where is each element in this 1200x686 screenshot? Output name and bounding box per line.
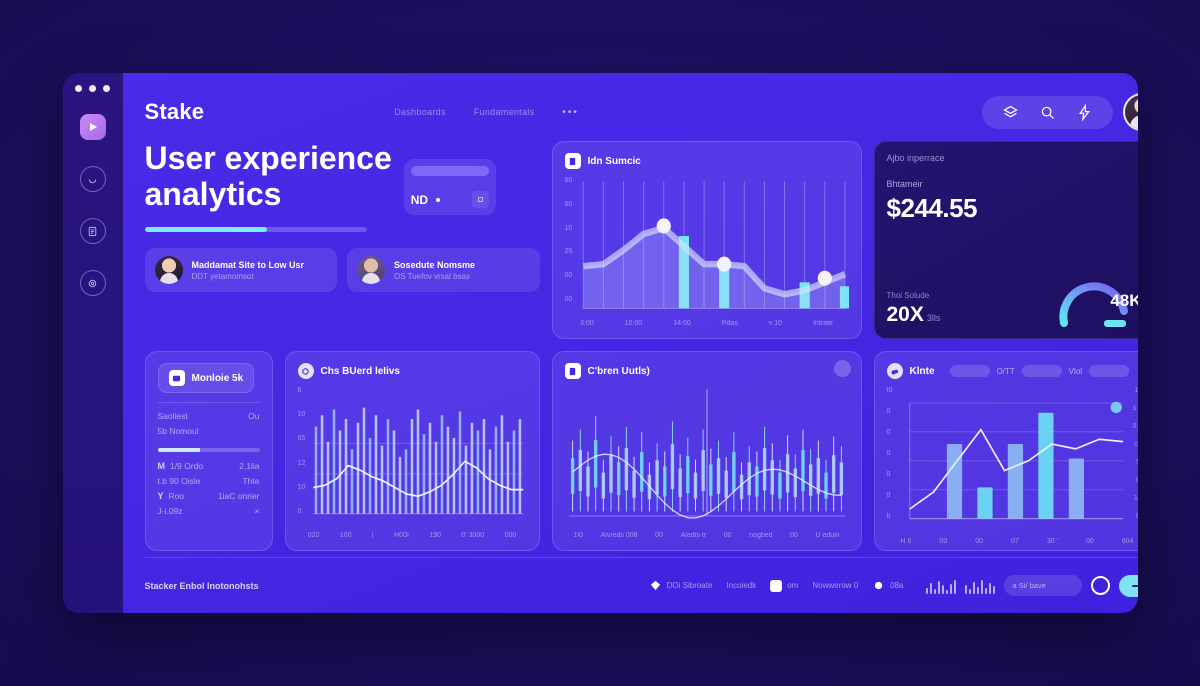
monitor-icon [169, 370, 185, 386]
document-icon [86, 225, 99, 238]
axis-tick: 00 [1086, 538, 1094, 545]
module-progress-fill [158, 448, 201, 452]
axis-tick: 10:00 [625, 320, 643, 327]
chart-options-button[interactable] [834, 360, 851, 377]
smile-icon [86, 173, 99, 186]
person-name: Maddamat Site to Low Usr [192, 260, 305, 270]
window-dot-minimize[interactable] [89, 85, 96, 92]
list-item[interactable]: Maddamat Site to Low Usr DDT yetamomsot [145, 248, 338, 292]
user-avatar[interactable] [1123, 93, 1138, 131]
axis-tick: 10 [565, 225, 581, 232]
filter-label[interactable]: Vlol [1069, 367, 1082, 376]
axis-tick: 0119 [1130, 423, 1138, 430]
action-toolbar [982, 96, 1113, 129]
footer-item-label: Nowwerow 0 [812, 581, 858, 590]
page-title-line1: User experience [145, 141, 392, 177]
sidebar-item-settings[interactable] [80, 270, 106, 296]
axis-tick: 0 [887, 492, 903, 499]
axis-tick: 0 [887, 450, 903, 457]
play-icon [87, 121, 99, 133]
stat-multiplier-value: 20X [887, 303, 924, 326]
card-title: Klnte [910, 366, 935, 377]
sparkline-bar [934, 589, 936, 594]
footer-controls: a Si/ bave [926, 575, 1138, 597]
list-item[interactable]: M1/9 Ordo 2,1lia [158, 461, 260, 471]
axis-tick: U eduin [815, 532, 839, 539]
cloud-icon [887, 363, 903, 379]
sparkline-bar [950, 584, 952, 594]
window-controls[interactable] [75, 85, 110, 92]
sparkline-bar [938, 581, 940, 594]
brand-name: Stake [145, 99, 205, 125]
gauge-widget: 48K [1052, 265, 1138, 327]
entry-value: 1laC onrier [218, 491, 260, 501]
candles-chart-svg [565, 387, 849, 529]
candles-chart-card: C'bren Uutls) 1I0Alvreds 00800Aledts tr0… [552, 351, 862, 551]
nav-more-button[interactable]: ••• [562, 107, 579, 118]
menu-icon [1132, 585, 1138, 587]
main-chart-card: Idn Sumcic 606010250000 3:0010:0014:00Pd… [552, 141, 862, 339]
axis-tick: 00 [565, 272, 581, 279]
sparkline-bar [989, 583, 991, 594]
axis-tick: t0 [887, 387, 903, 394]
axis-tick: b [887, 513, 903, 520]
axis-tick: 1'09 [1130, 387, 1138, 394]
axis-tick: 5c0 [1130, 459, 1138, 466]
y-axis-right-labels: 1'09s '400119c04t5c00/4t1/10604 [1130, 387, 1138, 521]
sparkline-chart [926, 578, 956, 594]
hero-progress-fill [145, 227, 267, 232]
nd-bar [411, 166, 489, 176]
avatar [155, 256, 183, 284]
stat-multiplier: 20X3lls [887, 303, 941, 327]
axis-tick: 0 [298, 508, 314, 515]
footer-item-label: DOi Sibroate [667, 581, 713, 590]
sparkline-bar [977, 587, 979, 594]
divider [158, 402, 260, 403]
person-subtitle: OS Tuefov vrsal bsas [394, 272, 475, 281]
hero-progress-bar [145, 227, 367, 232]
sparkline-bar [973, 582, 975, 594]
nav-item-dashboards[interactable]: Dashboards [394, 107, 446, 117]
module-chip[interactable]: Monloie 5k [158, 363, 255, 393]
top-actions [982, 93, 1138, 131]
axis-tick: 10 [298, 484, 314, 491]
x-axis-labels: 3:0010:0014:00Pdasv 10Intrate [565, 317, 849, 327]
axis-tick: 020 [308, 532, 320, 539]
axis-tick: 0 [887, 429, 903, 436]
axis-tick: 3:00 [580, 320, 594, 327]
footer-items: DOi Sibroate Incoiedk om Nowwerow 0 08a [649, 579, 904, 592]
sidebar-item-activity[interactable] [80, 166, 106, 192]
axis-tick: 604 [1122, 538, 1134, 545]
nd-label: ND [411, 193, 428, 207]
sparkline-bar [946, 590, 948, 594]
nd-expand-button[interactable] [472, 191, 489, 208]
sparkline-bar [954, 580, 956, 594]
axis-tick: 25 [565, 248, 581, 255]
list-row-label: Saoliest [158, 411, 188, 421]
gauge-chip [1104, 320, 1126, 327]
axis-tick: Alvreds 008 [601, 532, 638, 539]
sparkline-bar [965, 585, 967, 594]
sparkline-bar [981, 580, 983, 594]
circle-icon [872, 579, 885, 592]
list-item[interactable]: Sosedute Nomsme OS Tuefov vrsal bsas [347, 248, 540, 292]
page-title-line2: analytics [145, 177, 392, 213]
axis-tick: 0 [887, 408, 903, 415]
gauge-value: 48K [1110, 291, 1137, 311]
axis-tick: v 10 [769, 320, 782, 327]
avatar [357, 256, 385, 284]
axis-tick: 00 [790, 532, 798, 539]
search-input[interactable]: a Si/ bave [1004, 575, 1082, 596]
axis-tick: H00I [394, 532, 409, 539]
axis-tick: 1I0 [573, 532, 583, 539]
stat-eyebrow: Ajbo inperrace [887, 153, 1138, 163]
close-icon[interactable]: × [255, 506, 260, 516]
sparkline-bar [930, 583, 932, 594]
axis-tick: 604 [1130, 513, 1138, 520]
entry-label: 1/9 Ordo [170, 461, 203, 471]
axis-tick: 12 [298, 460, 314, 467]
axis-tick: 00 [975, 538, 983, 545]
list-row-value: Ou [248, 411, 259, 421]
search-icon[interactable] [1039, 104, 1056, 121]
window-dot-close[interactable] [75, 85, 82, 92]
window-dot-maximize[interactable] [103, 85, 110, 92]
x-axis-labels: H 600000730 '00604 [887, 535, 1138, 545]
list-item[interactable]: Incoiedk [726, 581, 756, 590]
entry-label: J-i.09z [158, 506, 183, 516]
y-axis-labels: t000000b [887, 387, 903, 521]
footer-title: Stacker Enbol Inotonohsts [145, 581, 259, 591]
entry-value: 2,1lia [239, 461, 259, 471]
hero-section: User experience analytics ND [145, 141, 540, 339]
module-progress-bar [158, 448, 260, 452]
axis-tick: | [372, 532, 374, 539]
module-list-card: Monloie 5k Saoliest Ou 5b Nomoul M1/9 Or… [145, 351, 273, 551]
chart-filter-pills: O/TT Vlol [950, 365, 1130, 377]
menu-button[interactable] [1119, 575, 1138, 597]
axis-tick: c04t [1130, 441, 1138, 448]
entry-icon: M [158, 461, 166, 471]
list-item: Saoliest Ou [158, 411, 260, 421]
bars-chart-plot[interactable]: 6106512100 [298, 387, 527, 529]
footer-item-label: Incoiedk [726, 581, 756, 590]
people-cards: Maddamat Site to Low Usr DDT yetamomsot … [145, 248, 540, 292]
sidebar-item-reports[interactable] [80, 218, 106, 244]
axis-tick: 00 [724, 532, 732, 539]
stat-multiplier-sub: 3lls [927, 313, 941, 323]
sparkline-bar [985, 588, 987, 594]
balance-stat-card: Ajbo inperrace Bhtameir $244.55 Thoi Sol… [874, 141, 1138, 339]
sparkline-bar [969, 589, 971, 594]
axis-tick: 10 [298, 411, 314, 418]
list-item[interactable]: 08a [872, 579, 903, 592]
filter-pill[interactable] [1022, 365, 1062, 377]
list-item: 5b Nomoul [158, 426, 260, 436]
x-axis-labels: 1I0Alvreds 00800Aledts tr00nogbed00U edu… [565, 529, 849, 539]
footer-item-label: 08a [890, 581, 903, 590]
axis-tick: 0/4t [1130, 477, 1138, 484]
stat-value: $244.55 [887, 193, 1138, 224]
axis-tick: 14:00 [673, 320, 691, 327]
axis-tick: 0 [887, 471, 903, 478]
mixed-chart-svg [887, 387, 1138, 535]
building-icon [565, 153, 581, 169]
list-item[interactable]: Nowwerow 0 [812, 581, 858, 590]
axis-tick: nogbed [749, 532, 772, 539]
list-item[interactable]: t.b 90 Oisle Thte [158, 476, 260, 486]
nd-widget[interactable]: ND [404, 159, 496, 215]
diamond-icon [649, 579, 662, 592]
axis-tick: 60 [565, 177, 581, 184]
axis-tick: Aledts tr [681, 532, 707, 539]
sparkline-bar [926, 588, 928, 594]
page-title: User experience analytics [145, 141, 392, 213]
sparkline-chart [965, 578, 995, 594]
axis-tick: Intrate [813, 320, 833, 327]
axis-tick: 00 [655, 532, 663, 539]
axis-tick: 000 [505, 532, 517, 539]
square-icon [770, 580, 782, 592]
filter-label[interactable]: O/TT [997, 367, 1015, 376]
filter-pill[interactable] [950, 365, 990, 377]
x-axis-labels: 020100|H00I1900' 3000000 [298, 529, 527, 539]
layers-icon[interactable] [1002, 104, 1019, 121]
top-bar: Stake Dashboards Fundamentals ••• [145, 91, 1138, 133]
bolt-icon[interactable] [1076, 104, 1093, 121]
target-icon [298, 363, 314, 379]
person-name: Sosedute Nomsme [394, 260, 475, 270]
dashboard-grid: User experience analytics ND [145, 133, 1138, 551]
main-chart-plot[interactable]: 606010250000 [565, 177, 849, 317]
stat-label: Bhtameir [887, 179, 1138, 189]
list-row-label: 5b Nomoul [158, 426, 199, 436]
app-window: Stake Dashboards Fundamentals ••• [63, 73, 1138, 613]
card-title: C'bren Uutls) [588, 366, 650, 377]
list-item[interactable]: DOi Sibroate [649, 579, 713, 592]
footer-item-label: om [787, 581, 798, 590]
axis-tick: 6 [298, 387, 314, 394]
axis-tick: 65 [298, 435, 314, 442]
row2-left-group: Monloie 5k Saoliest Ou 5b Nomoul M1/9 Or… [145, 351, 540, 551]
sparkline-bar [942, 585, 944, 594]
record-button[interactable] [1091, 576, 1110, 595]
entry-label: t.b 90 Oisle [158, 476, 201, 486]
y-axis-labels: 606010250000 [565, 177, 581, 303]
footer-bar: Stacker Enbol Inotonohsts DOi Sibroate I… [145, 557, 1138, 613]
stat-foot-label: Thoi Solude [887, 291, 941, 300]
square-icon [478, 197, 483, 202]
person-subtitle: DDT yetamomsot [192, 272, 305, 281]
module-chip-label: Monloie 5k [192, 373, 244, 384]
app-logo[interactable] [80, 114, 106, 140]
list-item[interactable]: J-i.09z × [158, 506, 260, 516]
candles-chart-plot[interactable] [565, 387, 849, 529]
mixed-chart-plot[interactable]: t000000b 1'09s '400119c04t5c00/4t1/10604 [887, 387, 1138, 535]
list-item[interactable]: om [770, 580, 798, 592]
card-title: Idn Sumcic [588, 156, 641, 167]
bars-chart-svg [298, 387, 527, 529]
entry-label: Roo [169, 491, 185, 501]
axis-tick: 07 [1011, 538, 1019, 545]
gear-icon [86, 277, 99, 290]
axis-tick: s '40 [1130, 405, 1138, 412]
card-title: Chs BUerd leIivs [321, 366, 400, 377]
axis-tick: 190 [429, 532, 441, 539]
axis-tick: H 6 [901, 538, 912, 545]
axis-tick: 30 ' [1047, 538, 1058, 545]
mixed-chart-card: Klnte O/TT Vlol t000000b 1'09s '400119c0… [874, 351, 1138, 551]
entry-icon: Y [158, 491, 164, 501]
entry-value: Thte [242, 476, 259, 486]
axis-tick: Pdas [722, 320, 738, 327]
main-chart-svg [565, 177, 849, 317]
axis-tick: 0' 3000 [461, 532, 484, 539]
y-axis-labels: 6106512100 [298, 387, 314, 515]
axis-tick: 60 [565, 201, 581, 208]
top-navigation: Dashboards Fundamentals ••• [394, 107, 579, 118]
axis-tick: 00 [939, 538, 947, 545]
building-icon [565, 363, 581, 379]
sidebar-rail [63, 73, 123, 613]
nav-item-fundamentals[interactable]: Fundamentals [474, 107, 535, 117]
filter-pill[interactable] [1089, 365, 1129, 377]
bars-chart-card: Chs BUerd leIivs 6106512100 020100|H00I1… [285, 351, 540, 551]
axis-tick: 100 [340, 532, 352, 539]
sparkline-bar [993, 586, 995, 594]
main-stage: Stake Dashboards Fundamentals ••• [123, 73, 1138, 613]
axis-tick: 00 [565, 296, 581, 303]
list-item[interactable]: YRoo 1laC onrier [158, 491, 260, 501]
axis-tick: 1/10 [1130, 495, 1138, 502]
nd-dot-icon [436, 198, 440, 202]
